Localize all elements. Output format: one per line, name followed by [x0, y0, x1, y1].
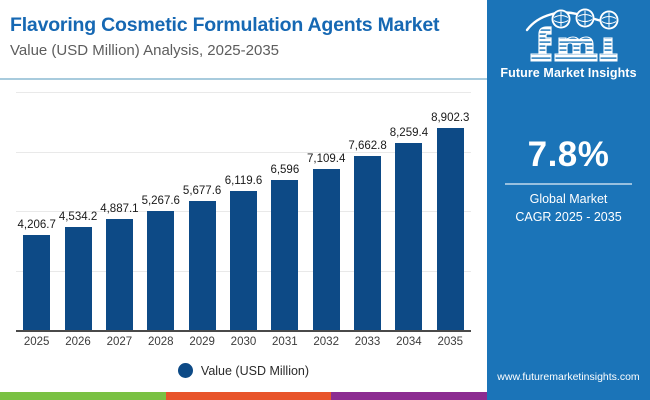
- cagr-divider: [505, 183, 632, 185]
- green-segment: [0, 392, 166, 400]
- x-axis-tick-label: 2033: [347, 336, 388, 354]
- x-axis-tick-label: 2034: [388, 336, 429, 354]
- orange-segment: [166, 392, 331, 400]
- x-axis-tick-label: 2031: [264, 336, 305, 354]
- bar-column[interactable]: 4,534.2: [58, 92, 99, 330]
- x-axis-line: [16, 330, 471, 332]
- bar-value-label: 6,596: [270, 164, 299, 176]
- bar-value-label: 6,119.6: [225, 175, 263, 187]
- accent-bar: [0, 392, 650, 400]
- market-chart-infographic: Flavoring Cosmetic Formulation Agents Ma…: [0, 0, 650, 400]
- x-axis-tick-label: 2029: [182, 336, 223, 354]
- x-axis-tick-label: 2025: [16, 336, 57, 354]
- bar[interactable]: [313, 169, 340, 330]
- bar[interactable]: [230, 191, 257, 330]
- cagr-caption-line2: CAGR 2025 - 2035: [487, 210, 650, 224]
- chart-header: Flavoring Cosmetic Formulation Agents Ma…: [0, 0, 487, 78]
- bar-column[interactable]: 8,902.3: [430, 92, 471, 330]
- bar-column[interactable]: 5,267.6: [140, 92, 181, 330]
- blue-segment: [487, 392, 650, 400]
- header-divider: [0, 78, 487, 80]
- page-subtitle: Value (USD Million) Analysis, 2025-2035: [10, 40, 487, 62]
- bar-value-label: 4,206.7: [17, 219, 55, 231]
- bar-column[interactable]: 5,677.6: [182, 92, 223, 330]
- cagr-caption-line1: Global Market: [487, 192, 650, 206]
- cagr-value: 7.8%: [487, 135, 650, 175]
- bar-column[interactable]: 7,109.4: [306, 92, 347, 330]
- x-axis-tick-label: 2027: [99, 336, 140, 354]
- legend-label: Value (USD Million): [201, 364, 309, 378]
- bar-value-label: 5,677.6: [183, 185, 221, 197]
- x-axis-tick-label: 2030: [223, 336, 264, 354]
- bar-value-label: 4,887.1: [100, 203, 138, 215]
- bar-column[interactable]: 4,206.7: [16, 92, 57, 330]
- bar-value-label: 7,109.4: [307, 153, 345, 165]
- bar[interactable]: [395, 143, 422, 330]
- x-axis-tick-label: 2028: [140, 336, 181, 354]
- bar-series: 4,206.74,534.24,887.15,267.65,677.66,119…: [16, 92, 471, 330]
- bar[interactable]: [106, 219, 133, 330]
- x-axis-tick-label: 2035: [430, 336, 471, 354]
- bar[interactable]: [23, 235, 50, 330]
- website-url: www.futuremarketinsights.com: [487, 371, 650, 383]
- bar-column[interactable]: 8,259.4: [388, 92, 429, 330]
- chart-panel: Flavoring Cosmetic Formulation Agents Ma…: [0, 0, 487, 392]
- bar-value-label: 7,662.8: [348, 140, 386, 152]
- x-axis-tick-label: 2032: [306, 336, 347, 354]
- bar-value-label: 4,534.2: [59, 211, 97, 223]
- brand-panel: Future Market Insights 7.8% Global Marke…: [487, 0, 650, 392]
- page-title: Flavoring Cosmetic Formulation Agents Ma…: [10, 13, 487, 37]
- fmi-logo: Future Market Insights: [487, 8, 650, 80]
- bar[interactable]: [65, 227, 92, 330]
- bar-value-label: 5,267.6: [142, 195, 180, 207]
- bar[interactable]: [354, 156, 381, 330]
- bar-value-label: 8,902.3: [431, 112, 469, 124]
- bar[interactable]: [147, 211, 174, 330]
- bar-column[interactable]: 7,662.8: [347, 92, 388, 330]
- legend-marker-icon: [178, 363, 193, 378]
- bar-column[interactable]: 4,887.1: [99, 92, 140, 330]
- bar[interactable]: [437, 128, 464, 330]
- bar[interactable]: [271, 180, 298, 330]
- x-axis-tick-label: 2026: [58, 336, 99, 354]
- purple-segment: [331, 392, 487, 400]
- bar-column[interactable]: 6,596: [264, 92, 305, 330]
- bar-value-label: 8,259.4: [390, 127, 428, 139]
- fmi-wordmark: Future Market Insights: [487, 66, 650, 80]
- x-axis-ticks: 2025202620272028202920302031203220332034…: [16, 336, 471, 354]
- bar[interactable]: [189, 201, 216, 330]
- fmi-logo-icon: [509, 8, 629, 64]
- chart-legend: Value (USD Million): [0, 363, 487, 378]
- bar-column[interactable]: 6,119.6: [223, 92, 264, 330]
